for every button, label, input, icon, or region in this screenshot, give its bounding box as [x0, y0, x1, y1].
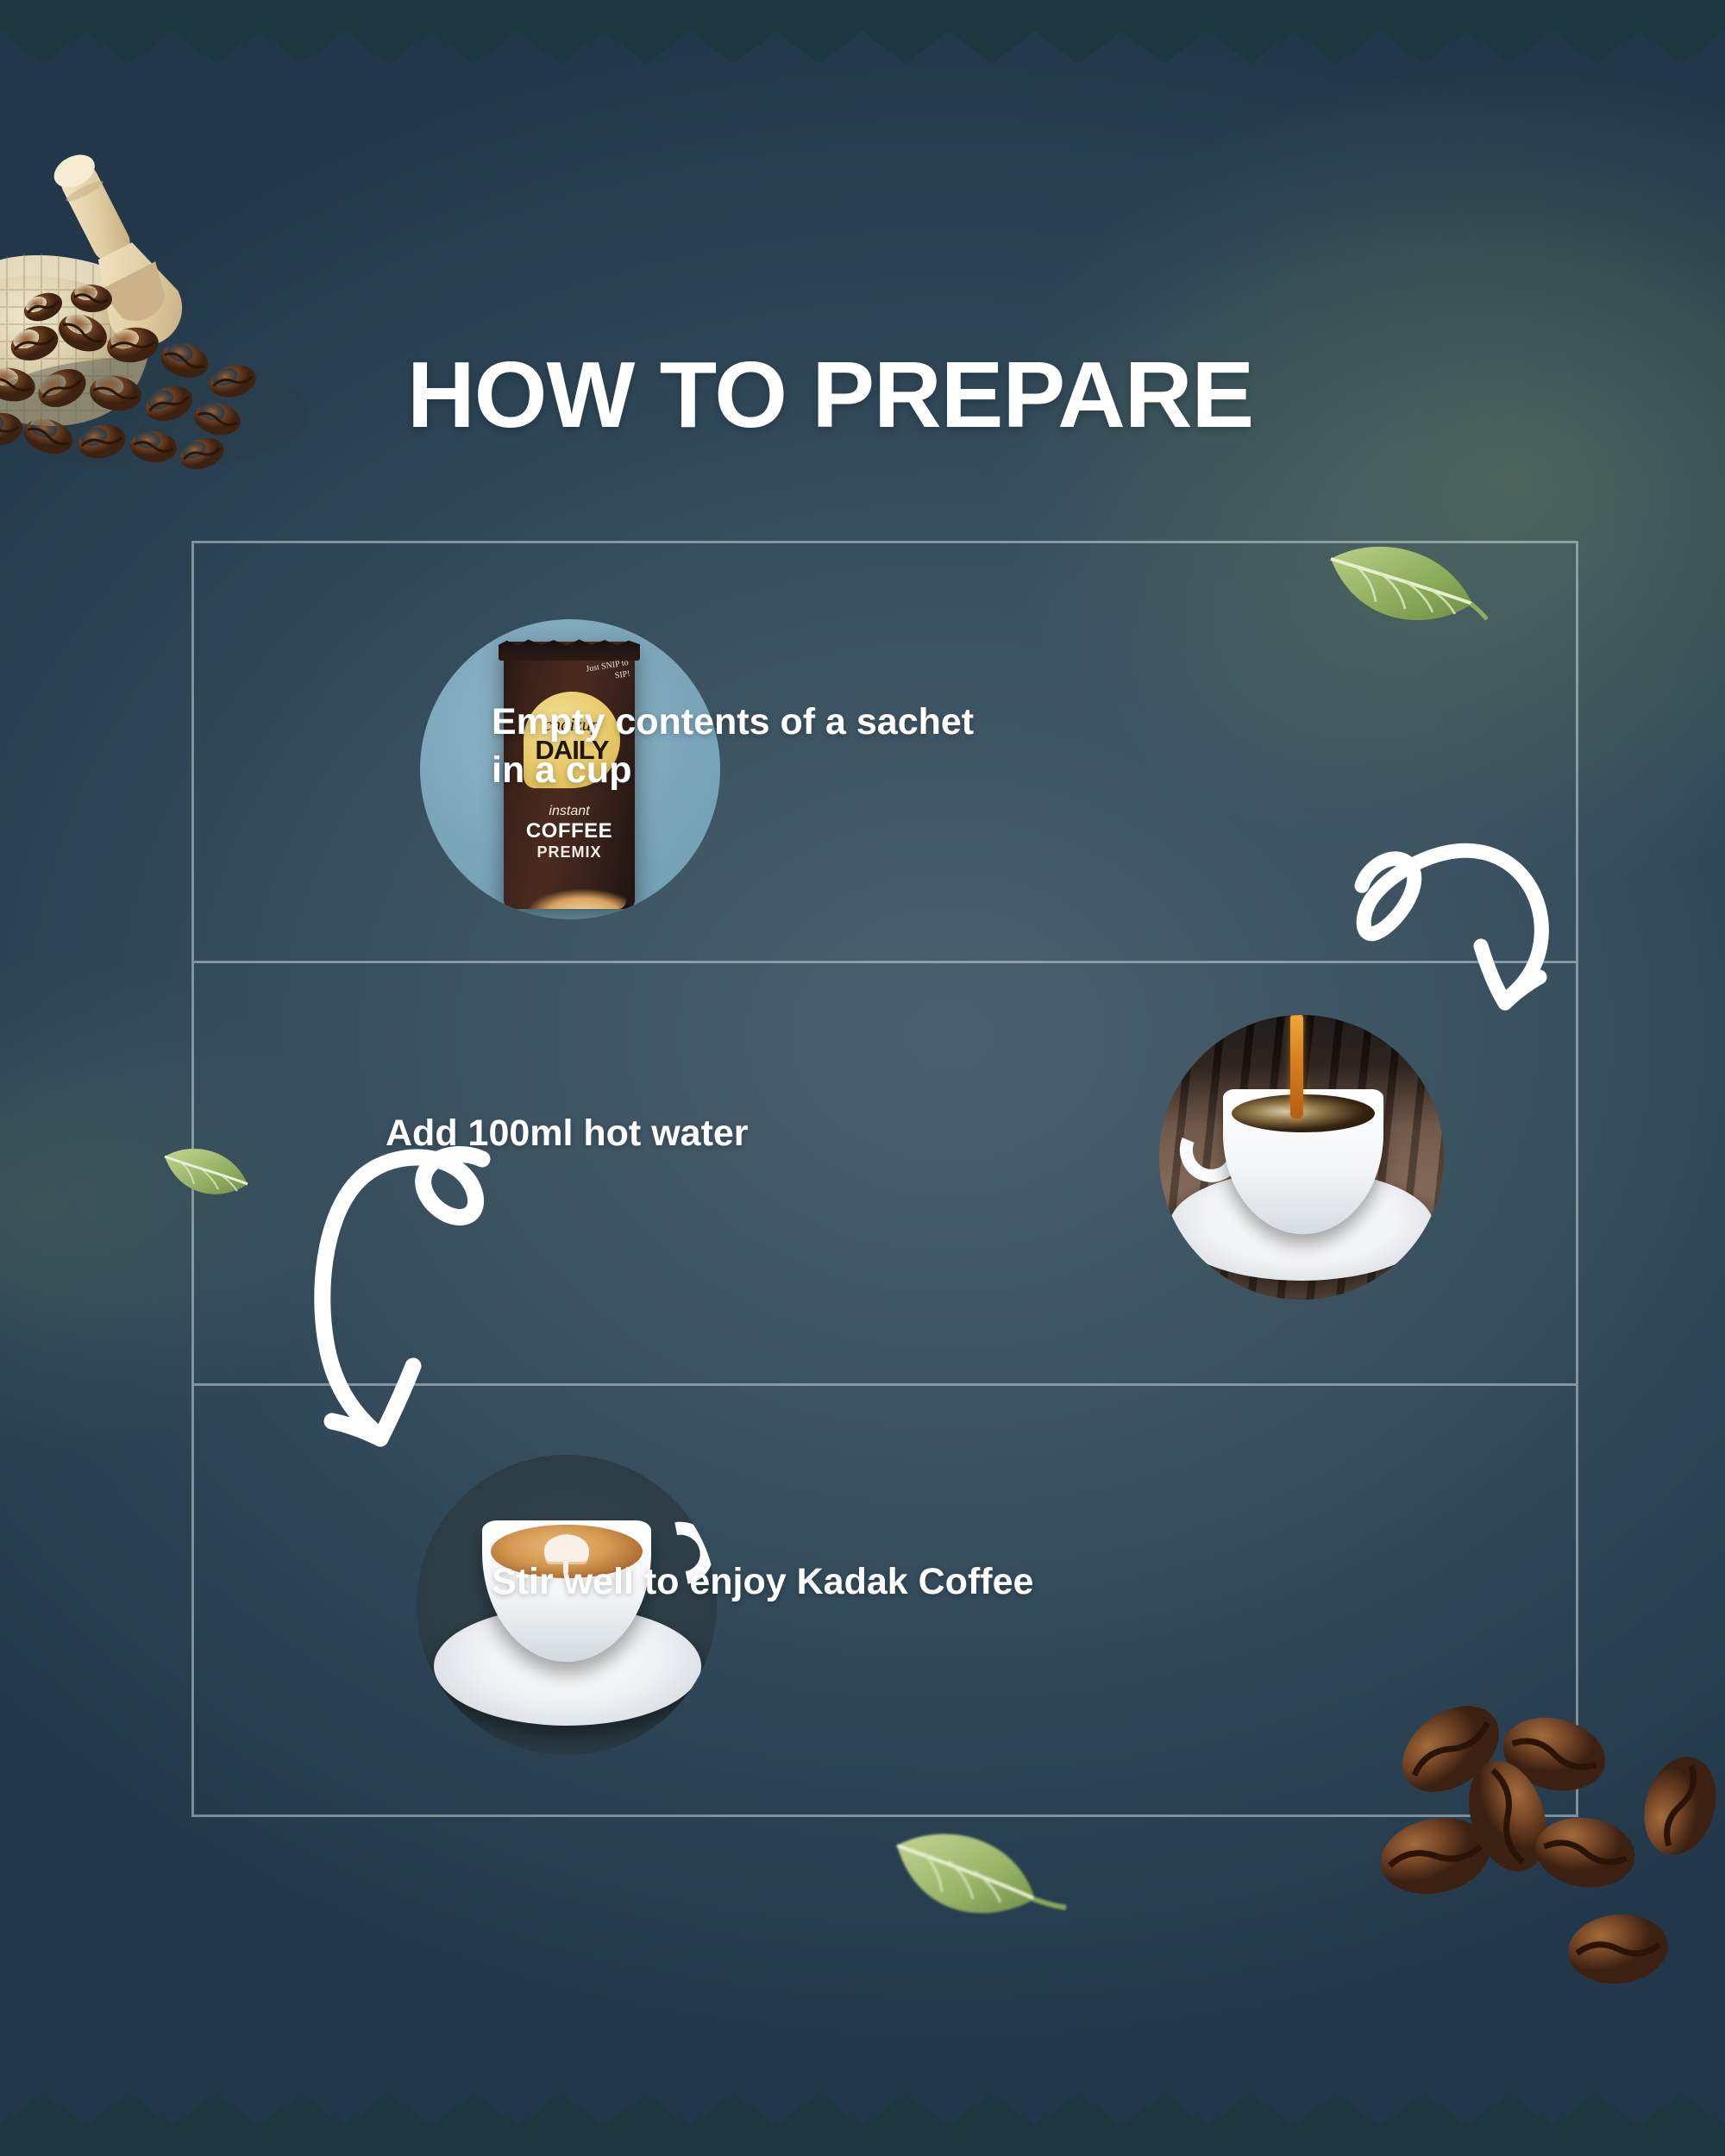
leaf-left-icon [160, 1143, 254, 1210]
sachet-foam-art [512, 862, 626, 909]
zigzag-top [0, 0, 1725, 67]
sachet-descriptor-1: instant [504, 804, 635, 819]
poster-canvas: HOW TO PREPARE [0, 0, 1725, 2156]
zigzag-bottom [0, 2087, 1725, 2156]
loose-coffee-beans [1363, 1664, 1725, 1984]
sachet-descriptor-2: COFFEE [504, 819, 635, 843]
pouring-coffee-cup-photo [1159, 1015, 1444, 1300]
step-3-text: Stir well to enjoy Kadak Coffee [492, 1558, 1044, 1607]
page-title: HOW TO PREPARE [407, 348, 1442, 442]
leaf-bottom-icon [888, 1820, 1069, 1945]
pouring-coffee-stream [1290, 1015, 1303, 1119]
sachet-snip-note: Just SNIP to SIP! [571, 658, 630, 688]
step-1-text: Empty contents of a sachet in a cup [492, 699, 1009, 795]
brewed-coffee-surface [1232, 1094, 1375, 1132]
arrow-step1-to-step2-icon [1333, 824, 1574, 1031]
sachet-crimp [499, 638, 640, 661]
arrow-step2-to-step3-icon [298, 1121, 548, 1457]
leaf-top-right-icon [1324, 536, 1488, 649]
coffee-bean-sack [0, 129, 352, 492]
sachet-descriptor-3: PREMIX [504, 843, 635, 862]
